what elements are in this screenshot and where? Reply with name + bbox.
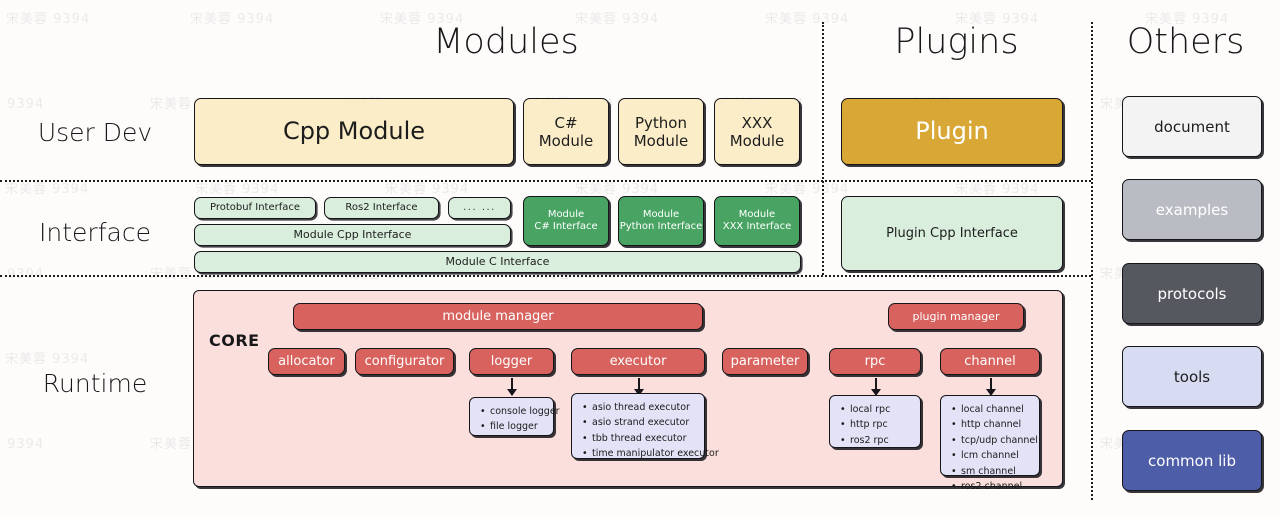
watermark: 宋美蓉 9394 (0, 433, 44, 452)
others-item-common-lib[interactable]: common lib (1122, 430, 1262, 491)
divider-plugins-others (1091, 22, 1093, 500)
core-component-configurator[interactable]: configurator (355, 348, 454, 375)
channel-detail-item: local channel (961, 402, 1031, 417)
core-component-rpc[interactable]: rpc (829, 348, 921, 375)
core-module-manager[interactable]: module manager (293, 303, 703, 330)
rpc-detail-item: http rpc (850, 417, 912, 432)
row-label-runtime: Runtime (0, 369, 190, 398)
channel-detail-item: http channel (961, 417, 1031, 432)
interface-protobuf-label: Protobuf Interface (210, 202, 300, 214)
rpc-detail-item: local rpc (850, 402, 912, 417)
column-title-plugins: Plugins (822, 22, 1091, 62)
channel-details-panel: local channel http channel tcp/udp chann… (940, 395, 1040, 476)
interface-ros2-label: Ros2 Interface (345, 202, 417, 214)
logger-detail-item: console logger (490, 404, 545, 419)
module-box-python-label: Python Module (634, 114, 689, 150)
core-component-parameter-label: parameter (731, 354, 800, 370)
others-item-common-lib-label: common lib (1148, 452, 1236, 470)
core-plugin-manager-label: plugin manager (913, 310, 1000, 323)
channel-detail-item: sm channel (961, 464, 1031, 479)
logger-detail-item: file logger (490, 419, 545, 434)
others-item-document-label: document (1154, 118, 1230, 136)
interface-plugin-cpp[interactable]: Plugin Cpp Interface (841, 196, 1063, 271)
core-component-parameter[interactable]: parameter (722, 348, 808, 375)
divider-interface-runtime (0, 275, 1091, 277)
core-component-rpc-label: rpc (865, 354, 886, 370)
interface-module-c-label: Module C Interface (446, 255, 550, 268)
watermark: 宋美蓉 9394 (5, 348, 89, 367)
others-item-tools-label: tools (1174, 368, 1210, 386)
interface-module-python[interactable]: Module Python Interface (618, 196, 704, 246)
core-component-allocator[interactable]: allocator (268, 348, 345, 375)
column-title-others: Others (1091, 22, 1280, 62)
divider-userdev-interface (0, 180, 1091, 182)
logger-details-panel: console logger file logger (469, 397, 554, 436)
executor-details-panel: asio thread executor asio strand executo… (571, 393, 705, 459)
channel-detail-item: tcp/udp channel (961, 433, 1031, 448)
others-item-protocols-label: protocols (1157, 285, 1226, 303)
interface-module-cpp[interactable]: Module Cpp Interface (194, 224, 511, 246)
channel-detail-item: lcm channel (961, 448, 1031, 463)
executor-detail-item: asio thread executor (592, 400, 696, 415)
core-component-executor-label: executor (610, 354, 667, 370)
others-item-document[interactable]: document (1122, 96, 1262, 157)
executor-detail-item: tbb thread executor (592, 431, 696, 446)
core-component-channel[interactable]: channel (940, 348, 1040, 375)
interface-module-csharp[interactable]: Module C# Interface (523, 196, 609, 246)
interface-module-python-label: Module Python Interface (620, 209, 703, 233)
core-plugin-manager[interactable]: plugin manager (888, 303, 1024, 330)
interface-module-c[interactable]: Module C Interface (194, 251, 801, 273)
module-box-xxx[interactable]: XXX Module (714, 98, 800, 165)
rpc-details-panel: local rpc http rpc ros2 rpc (829, 395, 921, 448)
interface-ros2[interactable]: Ros2 Interface (324, 197, 439, 219)
others-item-examples[interactable]: examples (1122, 179, 1262, 240)
interface-more-label: ... ... (463, 202, 496, 214)
executor-detail-item: asio strand executor (592, 415, 696, 430)
module-box-csharp-label: C# Module (539, 114, 594, 150)
interface-more[interactable]: ... ... (448, 197, 511, 219)
others-item-tools[interactable]: tools (1122, 346, 1262, 407)
module-box-cpp[interactable]: Cpp Module (194, 98, 514, 165)
module-box-python[interactable]: Python Module (618, 98, 704, 165)
plugin-box[interactable]: Plugin (841, 98, 1063, 165)
core-component-allocator-label: allocator (278, 354, 335, 370)
row-label-interface: Interface (0, 218, 190, 247)
column-title-modules: Modules (190, 22, 822, 62)
module-box-csharp[interactable]: C# Module (523, 98, 609, 165)
divider-modules-plugins (822, 22, 824, 275)
row-label-user-dev: User Dev (0, 118, 190, 147)
core-label: CORE (209, 331, 260, 350)
watermark: 宋美蓉 9394 (0, 263, 44, 282)
interface-protobuf[interactable]: Protobuf Interface (194, 197, 316, 219)
others-item-examples-label: examples (1156, 201, 1228, 219)
others-item-protocols[interactable]: protocols (1122, 263, 1262, 324)
channel-detail-item: ros2 channel (961, 479, 1031, 494)
executor-detail-item: time manipulator executor (592, 446, 696, 461)
core-module-manager-label: module manager (442, 309, 553, 325)
plugin-box-label: Plugin (915, 117, 988, 146)
core-component-logger-label: logger (491, 354, 532, 370)
core-component-configurator-label: configurator (365, 354, 445, 370)
interface-plugin-cpp-label: Plugin Cpp Interface (886, 226, 1018, 242)
interface-module-csharp-label: Module C# Interface (534, 209, 597, 233)
module-box-cpp-label: Cpp Module (283, 117, 425, 146)
core-component-logger[interactable]: logger (469, 348, 554, 375)
module-box-xxx-label: XXX Module (730, 114, 785, 150)
core-component-executor[interactable]: executor (571, 348, 705, 375)
interface-module-cpp-label: Module Cpp Interface (294, 228, 412, 241)
watermark: 宋美蓉 9394 (6, 8, 90, 27)
interface-module-xxx[interactable]: Module XXX Interface (714, 196, 800, 246)
rpc-detail-item: ros2 rpc (850, 433, 912, 448)
watermark: 宋美蓉 9394 (0, 93, 44, 112)
core-component-channel-label: channel (964, 354, 1015, 370)
interface-module-xxx-label: Module XXX Interface (723, 209, 792, 233)
architecture-diagram: 宋美蓉 9394 宋美蓉 9394 宋美蓉 9394 宋美蓉 9394 宋美蓉 … (0, 0, 1280, 519)
